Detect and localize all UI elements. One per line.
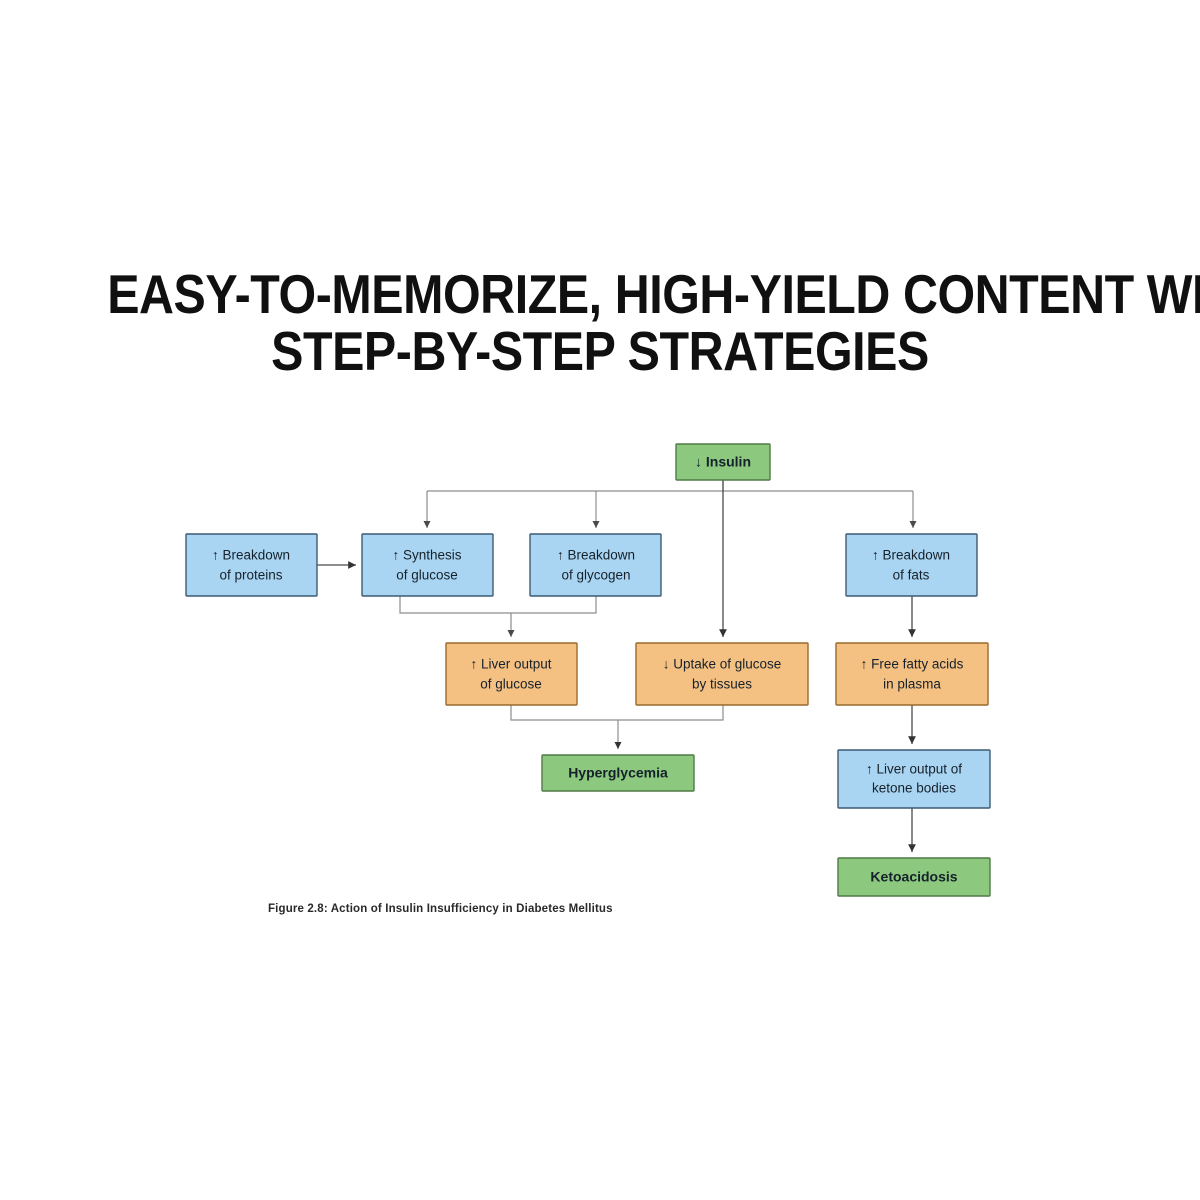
node-breakdown-proteins[interactable]: ↑ Breakdown of proteins (186, 534, 317, 596)
page-canvas: EASY-TO-MEMORIZE, HIGH-YIELD CONTENT WIT… (0, 0, 1200, 1200)
page-title-line-1: EASY-TO-MEMORIZE, HIGH-YIELD CONTENT WIT… (107, 266, 1093, 323)
flowchart-nodes: ↓ Insulin ↑ Breakdown of proteins ↑ Synt… (186, 444, 990, 896)
node-free-fatty-acids-label-2: in plasma (883, 677, 941, 692)
page-title-line-2: STEP-BY-STEP STRATEGIES (107, 323, 1093, 380)
node-liver-output-ketone-label-1: ↑ Liver output of (866, 762, 962, 777)
flowchart-svg: ↓ Insulin ↑ Breakdown of proteins ↑ Synt… (0, 430, 1200, 930)
node-free-fatty-acids-label-1: ↑ Free fatty acids (861, 657, 964, 672)
node-hyperglycemia-label: Hyperglycemia (568, 765, 668, 781)
node-ketoacidosis-label: Ketoacidosis (870, 869, 957, 885)
node-breakdown-fats-label-2: of fats (893, 568, 930, 583)
edge-synthesis-to-merge (400, 596, 596, 613)
node-breakdown-fats-rect (846, 534, 977, 596)
node-breakdown-fats-label-1: ↑ Breakdown (872, 548, 950, 563)
node-liver-output-ketone-label-2: ketone bodies (872, 781, 956, 796)
node-synthesis-glucose-label-1: ↑ Synthesis (392, 548, 461, 563)
edge-liver-uptake-merge (511, 705, 723, 720)
node-hyperglycemia[interactable]: Hyperglycemia (542, 755, 694, 791)
node-insulin[interactable]: ↓ Insulin (676, 444, 770, 480)
node-breakdown-proteins-label-1: ↑ Breakdown (212, 548, 290, 563)
node-liver-output-glucose-label-2: of glucose (480, 677, 542, 692)
figure-caption: Figure 2.8: Action of Insulin Insufficie… (268, 903, 613, 915)
node-uptake-glucose[interactable]: ↓ Uptake of glucose by tissues (636, 643, 808, 705)
node-breakdown-glycogen-rect (530, 534, 661, 596)
node-breakdown-proteins-rect (186, 534, 317, 596)
node-synthesis-glucose[interactable]: ↑ Synthesis of glucose (362, 534, 493, 596)
node-uptake-glucose-rect (636, 643, 808, 705)
node-breakdown-fats[interactable]: ↑ Breakdown of fats (846, 534, 977, 596)
node-free-fatty-acids[interactable]: ↑ Free fatty acids in plasma (836, 643, 988, 705)
node-breakdown-proteins-label-2: of proteins (219, 568, 282, 583)
node-breakdown-glycogen-label-2: of glycogen (561, 568, 630, 583)
node-breakdown-glycogen[interactable]: ↑ Breakdown of glycogen (530, 534, 661, 596)
page-title: EASY-TO-MEMORIZE, HIGH-YIELD CONTENT WIT… (0, 266, 1200, 379)
node-liver-output-glucose-label-1: ↑ Liver output (470, 657, 551, 672)
node-liver-output-glucose-rect (446, 643, 577, 705)
node-ketoacidosis[interactable]: Ketoacidosis (838, 858, 990, 896)
node-insulin-label: ↓ Insulin (695, 454, 751, 470)
node-liver-output-ketone[interactable]: ↑ Liver output of ketone bodies (838, 750, 990, 808)
node-liver-output-glucose[interactable]: ↑ Liver output of glucose (446, 643, 577, 705)
node-free-fatty-acids-rect (836, 643, 988, 705)
node-breakdown-glycogen-label-1: ↑ Breakdown (557, 548, 635, 563)
flowchart-figure: ↓ Insulin ↑ Breakdown of proteins ↑ Synt… (0, 430, 1200, 930)
node-uptake-glucose-label-2: by tissues (692, 677, 752, 692)
node-liver-output-ketone-rect (838, 750, 990, 808)
node-synthesis-glucose-label-2: of glucose (396, 568, 458, 583)
node-uptake-glucose-label-1: ↓ Uptake of glucose (663, 657, 782, 672)
node-synthesis-glucose-rect (362, 534, 493, 596)
